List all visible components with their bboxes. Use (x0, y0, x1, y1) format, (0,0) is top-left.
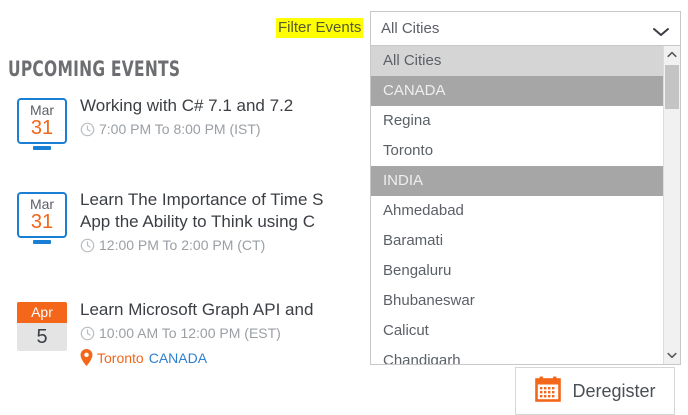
event-time: 7:00 PM To 8:00 PM (IST) (99, 121, 261, 137)
event-location-row: Toronto CANADA (80, 349, 313, 366)
monitor-stand-icon (33, 240, 51, 244)
dropdown-option-all-cities[interactable]: All Cities (371, 46, 663, 76)
event-date-badge-webinar: Mar 31 (17, 192, 67, 244)
event-month: Mar (19, 102, 65, 118)
event-month: Mar (19, 196, 65, 212)
event-title[interactable]: Working with C# 7.1 and 7.2 (80, 95, 293, 117)
upcoming-events-list: Mar 31 Working with C# 7.1 and 7.2 (0, 92, 420, 396)
chevron-down-icon[interactable] (664, 347, 680, 364)
dropdown-option-baramati[interactable]: Baramati (371, 226, 663, 256)
dropdown-option-regina[interactable]: Regina (371, 106, 663, 136)
event-details: Learn The Importance of Time S App the A… (80, 186, 323, 253)
event-title-line1: Working with C# 7.1 and 7.2 (80, 96, 293, 115)
clock-icon (80, 238, 95, 253)
chevron-down-icon[interactable] (652, 24, 670, 34)
list-item[interactable]: Mar 31 Learn The Importance of Time S Ap… (0, 186, 420, 296)
event-day: 31 (19, 212, 65, 233)
event-time-row: 12:00 PM To 2:00 PM (CT) (80, 237, 323, 253)
event-date-badge-webinar: Mar 31 (17, 98, 67, 150)
clock-icon (80, 326, 95, 341)
deregister-label: Deregister (572, 381, 655, 402)
deregister-button[interactable]: Deregister (515, 367, 675, 415)
scrollbar-thumb[interactable] (665, 65, 679, 109)
location-pin-icon (80, 349, 93, 366)
dropdown-scrollbar[interactable] (663, 46, 680, 364)
dropdown-option-bengaluru[interactable]: Bengaluru (371, 256, 663, 286)
event-title[interactable]: Learn The Importance of Time S App the A… (80, 189, 323, 233)
event-details: Working with C# 7.1 and 7.2 7:00 PM To 8… (80, 92, 293, 137)
clock-icon (80, 122, 95, 137)
chevron-up-icon[interactable] (664, 46, 680, 63)
dropdown-group-canada: CANADA (371, 76, 663, 106)
calendar-icon (534, 375, 562, 408)
list-item[interactable]: Apr 5 Learn Microsoft Graph API and 10:0… (0, 296, 420, 396)
city-filter-selected-value: All Cities (381, 20, 652, 37)
event-title-line1: Learn The Importance of Time S (80, 189, 323, 211)
monitor-stand-icon (33, 146, 51, 150)
page-title: UPCOMING EVENTS (8, 57, 180, 81)
event-title-line2: App the Ability to Think using C (80, 211, 323, 233)
event-date-badge-calendar: Apr 5 (17, 302, 67, 351)
event-title[interactable]: Learn Microsoft Graph API and (80, 299, 313, 321)
city-filter-select[interactable]: All Cities (370, 11, 681, 46)
dropdown-option-toronto[interactable]: Toronto (371, 136, 663, 166)
event-time: 10:00 AM To 12:00 PM (EST) (99, 325, 281, 341)
list-item[interactable]: Mar 31 Working with C# 7.1 and 7.2 (0, 92, 420, 186)
event-time: 12:00 PM To 2:00 PM (CT) (99, 237, 265, 253)
dropdown-option-ahmedabad[interactable]: Ahmedabad (371, 196, 663, 226)
events-page: Filter Events UPCOMING EVENTS Mar 31 Wor… (0, 0, 688, 415)
city-filter-option-list: All Cities CANADA Regina Toronto INDIA A… (371, 46, 663, 364)
dropdown-group-india: INDIA (371, 166, 663, 196)
event-time-row: 7:00 PM To 8:00 PM (IST) (80, 121, 293, 137)
event-details: Learn Microsoft Graph API and 10:00 AM T… (80, 296, 313, 366)
city-filter-dropdown[interactable]: All Cities CANADA Regina Toronto INDIA A… (370, 46, 681, 365)
event-country: CANADA (149, 350, 207, 366)
event-time-row: 10:00 AM To 12:00 PM (EST) (80, 325, 313, 341)
event-title-line1: Learn Microsoft Graph API and (80, 300, 313, 319)
event-day: 31 (19, 118, 65, 139)
event-month: Apr (17, 302, 67, 323)
event-day: 5 (17, 323, 67, 351)
dropdown-option-calicut[interactable]: Calicut (371, 316, 663, 346)
filter-events-label: Filter Events (276, 18, 363, 38)
dropdown-option-chandigarh[interactable]: Chandigarh (371, 346, 663, 365)
dropdown-option-bhubaneswar[interactable]: Bhubaneswar (371, 286, 663, 316)
event-city: Toronto (97, 350, 144, 366)
